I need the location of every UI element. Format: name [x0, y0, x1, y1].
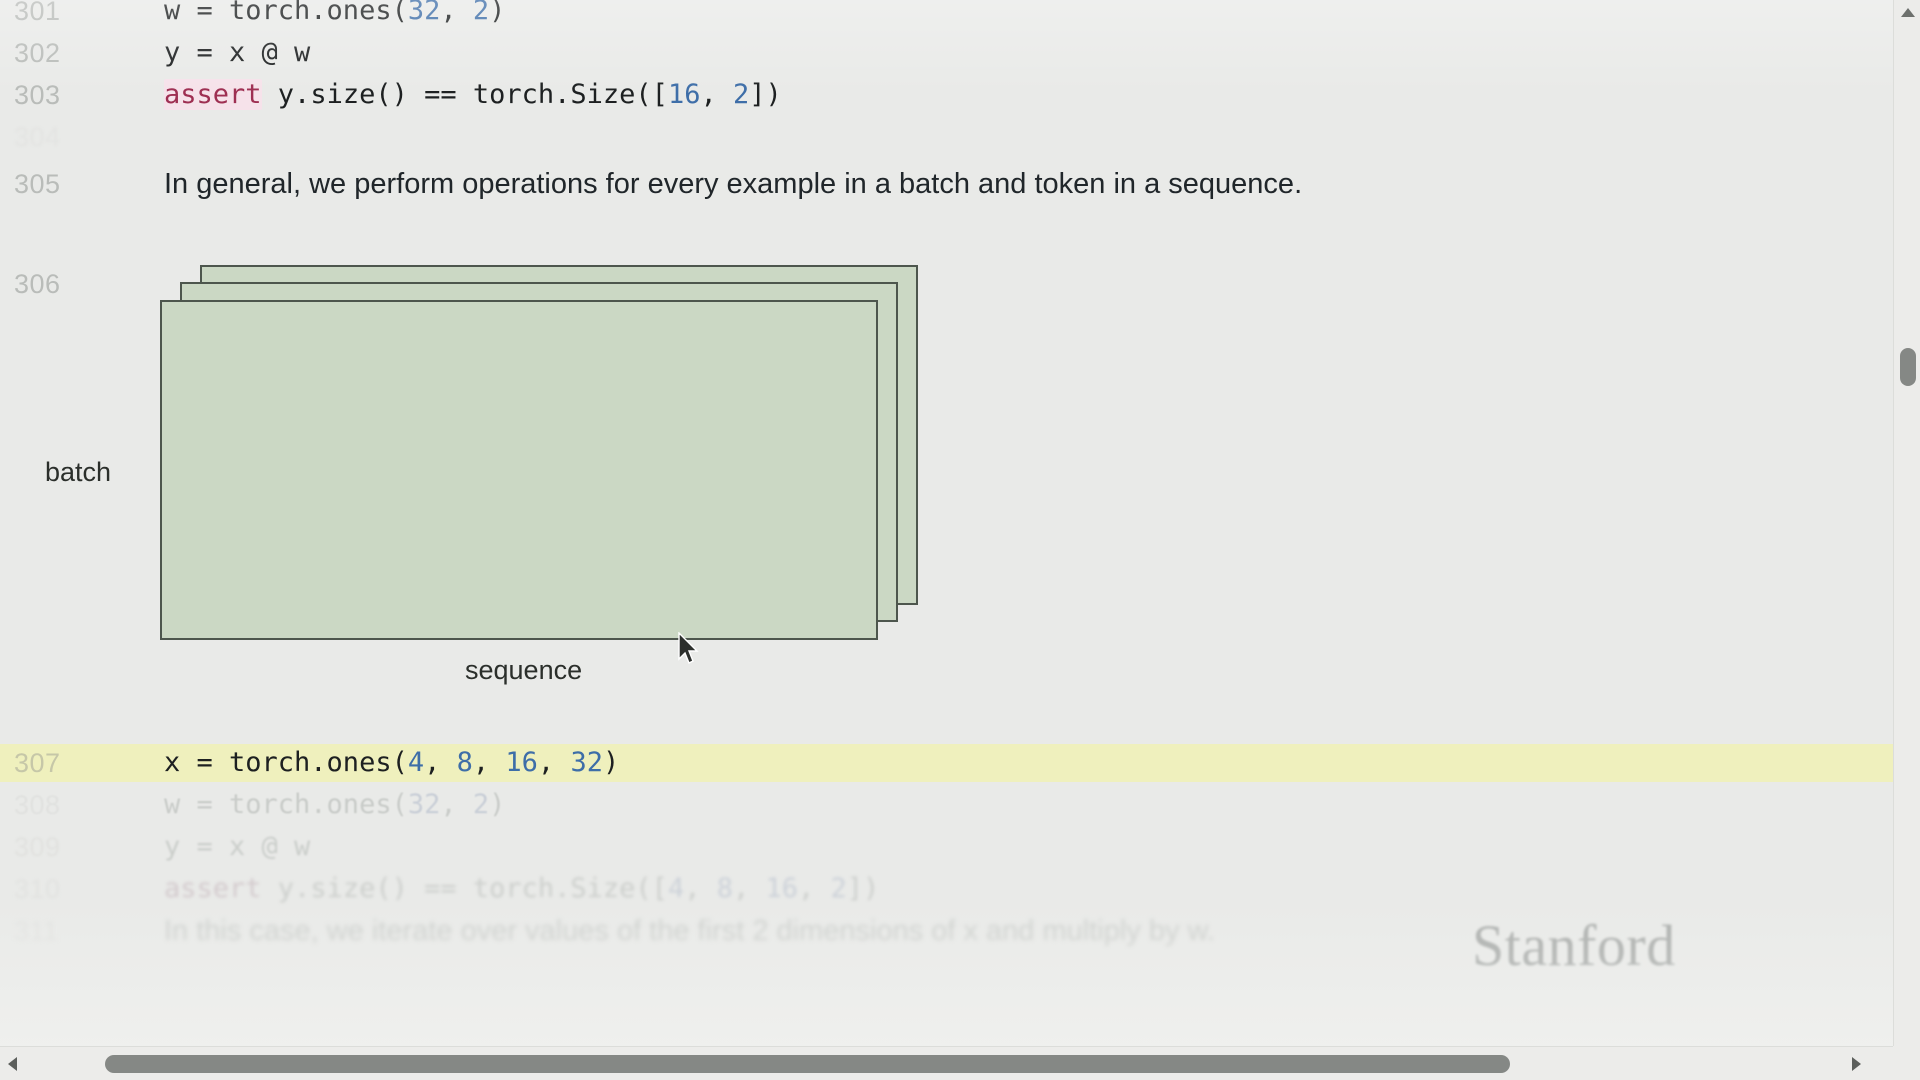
code-token: ])	[847, 873, 880, 904]
line-number: 308	[0, 786, 108, 824]
line-content: x = torch.ones(4, 8, 16, 32)	[108, 744, 1893, 782]
code-line-307[interactable]: 307x = torch.ones(4, 8, 16, 32)	[0, 744, 1893, 782]
code-token: y = x @ w	[164, 831, 310, 862]
line-number: 301	[0, 0, 108, 30]
line-content: y = x @ w	[108, 34, 1893, 72]
scroll-right-arrow-icon[interactable]	[1852, 1057, 1861, 1071]
code-token: w = torch.ones(	[164, 789, 408, 820]
code-token: ,	[424, 747, 457, 778]
code-token: ,	[733, 873, 766, 904]
code-token: y = x @ w	[164, 37, 310, 68]
code-line-305[interactable]: 305In general, we perform operations for…	[0, 165, 1893, 203]
code-token: y.size() == torch.Size([	[262, 79, 668, 110]
code-text: assert y.size() == torch.Size([16, 2])	[164, 76, 1893, 114]
code-token: )	[603, 747, 619, 778]
numeric-literal: 8	[457, 747, 473, 778]
line-number: 310	[0, 870, 108, 908]
code-token: ,	[538, 747, 571, 778]
code-line-308[interactable]: 308w = torch.ones(32, 2)	[0, 786, 1893, 824]
stanford-wordmark: Stanford	[1472, 912, 1676, 979]
prose-text: In general, we perform operations for ev…	[164, 165, 1893, 203]
numeric-literal: 32	[408, 0, 441, 26]
code-text: w = torch.ones(32, 2)	[164, 0, 1893, 30]
line-content: assert y.size() == torch.Size([4, 8, 16,…	[108, 870, 1893, 908]
line-number: 305	[0, 165, 108, 203]
code-line-301[interactable]: 301w = torch.ones(32, 2)	[0, 0, 1893, 30]
line-number: 311	[0, 912, 108, 950]
code-line-309[interactable]: 309y = x @ w	[0, 828, 1893, 866]
code-line-302[interactable]: 302y = x @ w	[0, 34, 1893, 72]
numeric-literal: 2	[831, 873, 847, 904]
keyword-assert: assert	[164, 873, 262, 904]
code-token: ,	[440, 789, 473, 820]
vertical-scrollbar[interactable]	[1893, 0, 1920, 1046]
code-token: ,	[473, 747, 506, 778]
code-token: In this case, we iterate over values of …	[164, 915, 1215, 947]
line-number: 306	[0, 265, 108, 303]
code-token: )	[489, 789, 505, 820]
code-token: ,	[700, 79, 733, 110]
slide-viewport: 301w = torch.ones(32, 2)302y = x @ w303a…	[0, 0, 1920, 1080]
scroll-left-arrow-icon[interactable]	[8, 1057, 17, 1071]
line-number: 303	[0, 76, 108, 114]
code-token: ,	[684, 873, 717, 904]
code-text: y = x @ w	[164, 34, 1893, 72]
diagram-label-batch: batch	[45, 457, 111, 488]
code-text: w = torch.ones(32, 2)	[164, 786, 1893, 824]
line-number: 304	[0, 118, 108, 156]
numeric-literal: 32	[408, 789, 441, 820]
numeric-literal: 4	[408, 747, 424, 778]
scrollbar-corner	[1893, 1046, 1920, 1080]
horizontal-scrollbar-thumb[interactable]	[105, 1055, 1510, 1073]
horizontal-scrollbar[interactable]	[0, 1046, 1893, 1080]
numeric-literal: 2	[473, 789, 489, 820]
code-token: )	[489, 0, 505, 26]
code-token: ,	[440, 0, 473, 26]
line-number: 302	[0, 34, 108, 72]
diagram-label-sequence: sequence	[465, 655, 582, 686]
notebook-content[interactable]: 301w = torch.ones(32, 2)302y = x @ w303a…	[0, 0, 1893, 1046]
line-content: assert y.size() == torch.Size([16, 2])	[108, 76, 1893, 114]
numeric-literal: 2	[473, 0, 489, 26]
code-text: x = torch.ones(4, 8, 16, 32)	[164, 744, 1893, 782]
numeric-literal: 2	[733, 79, 749, 110]
code-text: y = x @ w	[164, 828, 1893, 866]
code-token: ,	[798, 873, 831, 904]
tensor-slab-front	[160, 300, 878, 640]
code-token: y.size() == torch.Size([	[262, 873, 668, 904]
code-token: In general, we perform operations for ev…	[164, 168, 1302, 200]
numeric-literal: 16	[505, 747, 538, 778]
tensor-stack-diagram: batch sequence	[160, 265, 1060, 705]
numeric-literal: 4	[668, 873, 684, 904]
code-line-303[interactable]: 303assert y.size() == torch.Size([16, 2]…	[0, 76, 1893, 114]
line-content: w = torch.ones(32, 2)	[108, 0, 1893, 30]
numeric-literal: 32	[570, 747, 603, 778]
vertical-scrollbar-thumb[interactable]	[1900, 348, 1916, 386]
empty-line	[164, 118, 1893, 156]
code-line-310[interactable]: 310assert y.size() == torch.Size([4, 8, …	[0, 870, 1893, 908]
line-content: w = torch.ones(32, 2)	[108, 786, 1893, 824]
code-text: assert y.size() == torch.Size([4, 8, 16,…	[164, 870, 1893, 908]
code-token: x = torch.ones(	[164, 747, 408, 778]
line-number: 309	[0, 828, 108, 866]
numeric-literal: 8	[717, 873, 733, 904]
code-line-304[interactable]: 304	[0, 118, 1893, 156]
line-content: In general, we perform operations for ev…	[108, 165, 1893, 203]
numeric-literal: 16	[766, 873, 799, 904]
line-content: y = x @ w	[108, 828, 1893, 866]
keyword-assert: assert	[164, 79, 262, 110]
code-token: ])	[749, 79, 782, 110]
numeric-literal: 16	[668, 79, 701, 110]
line-number: 307	[0, 744, 108, 782]
code-token: w = torch.ones(	[164, 0, 408, 26]
line-content	[108, 118, 1893, 156]
scroll-up-arrow-icon[interactable]	[1901, 8, 1915, 17]
